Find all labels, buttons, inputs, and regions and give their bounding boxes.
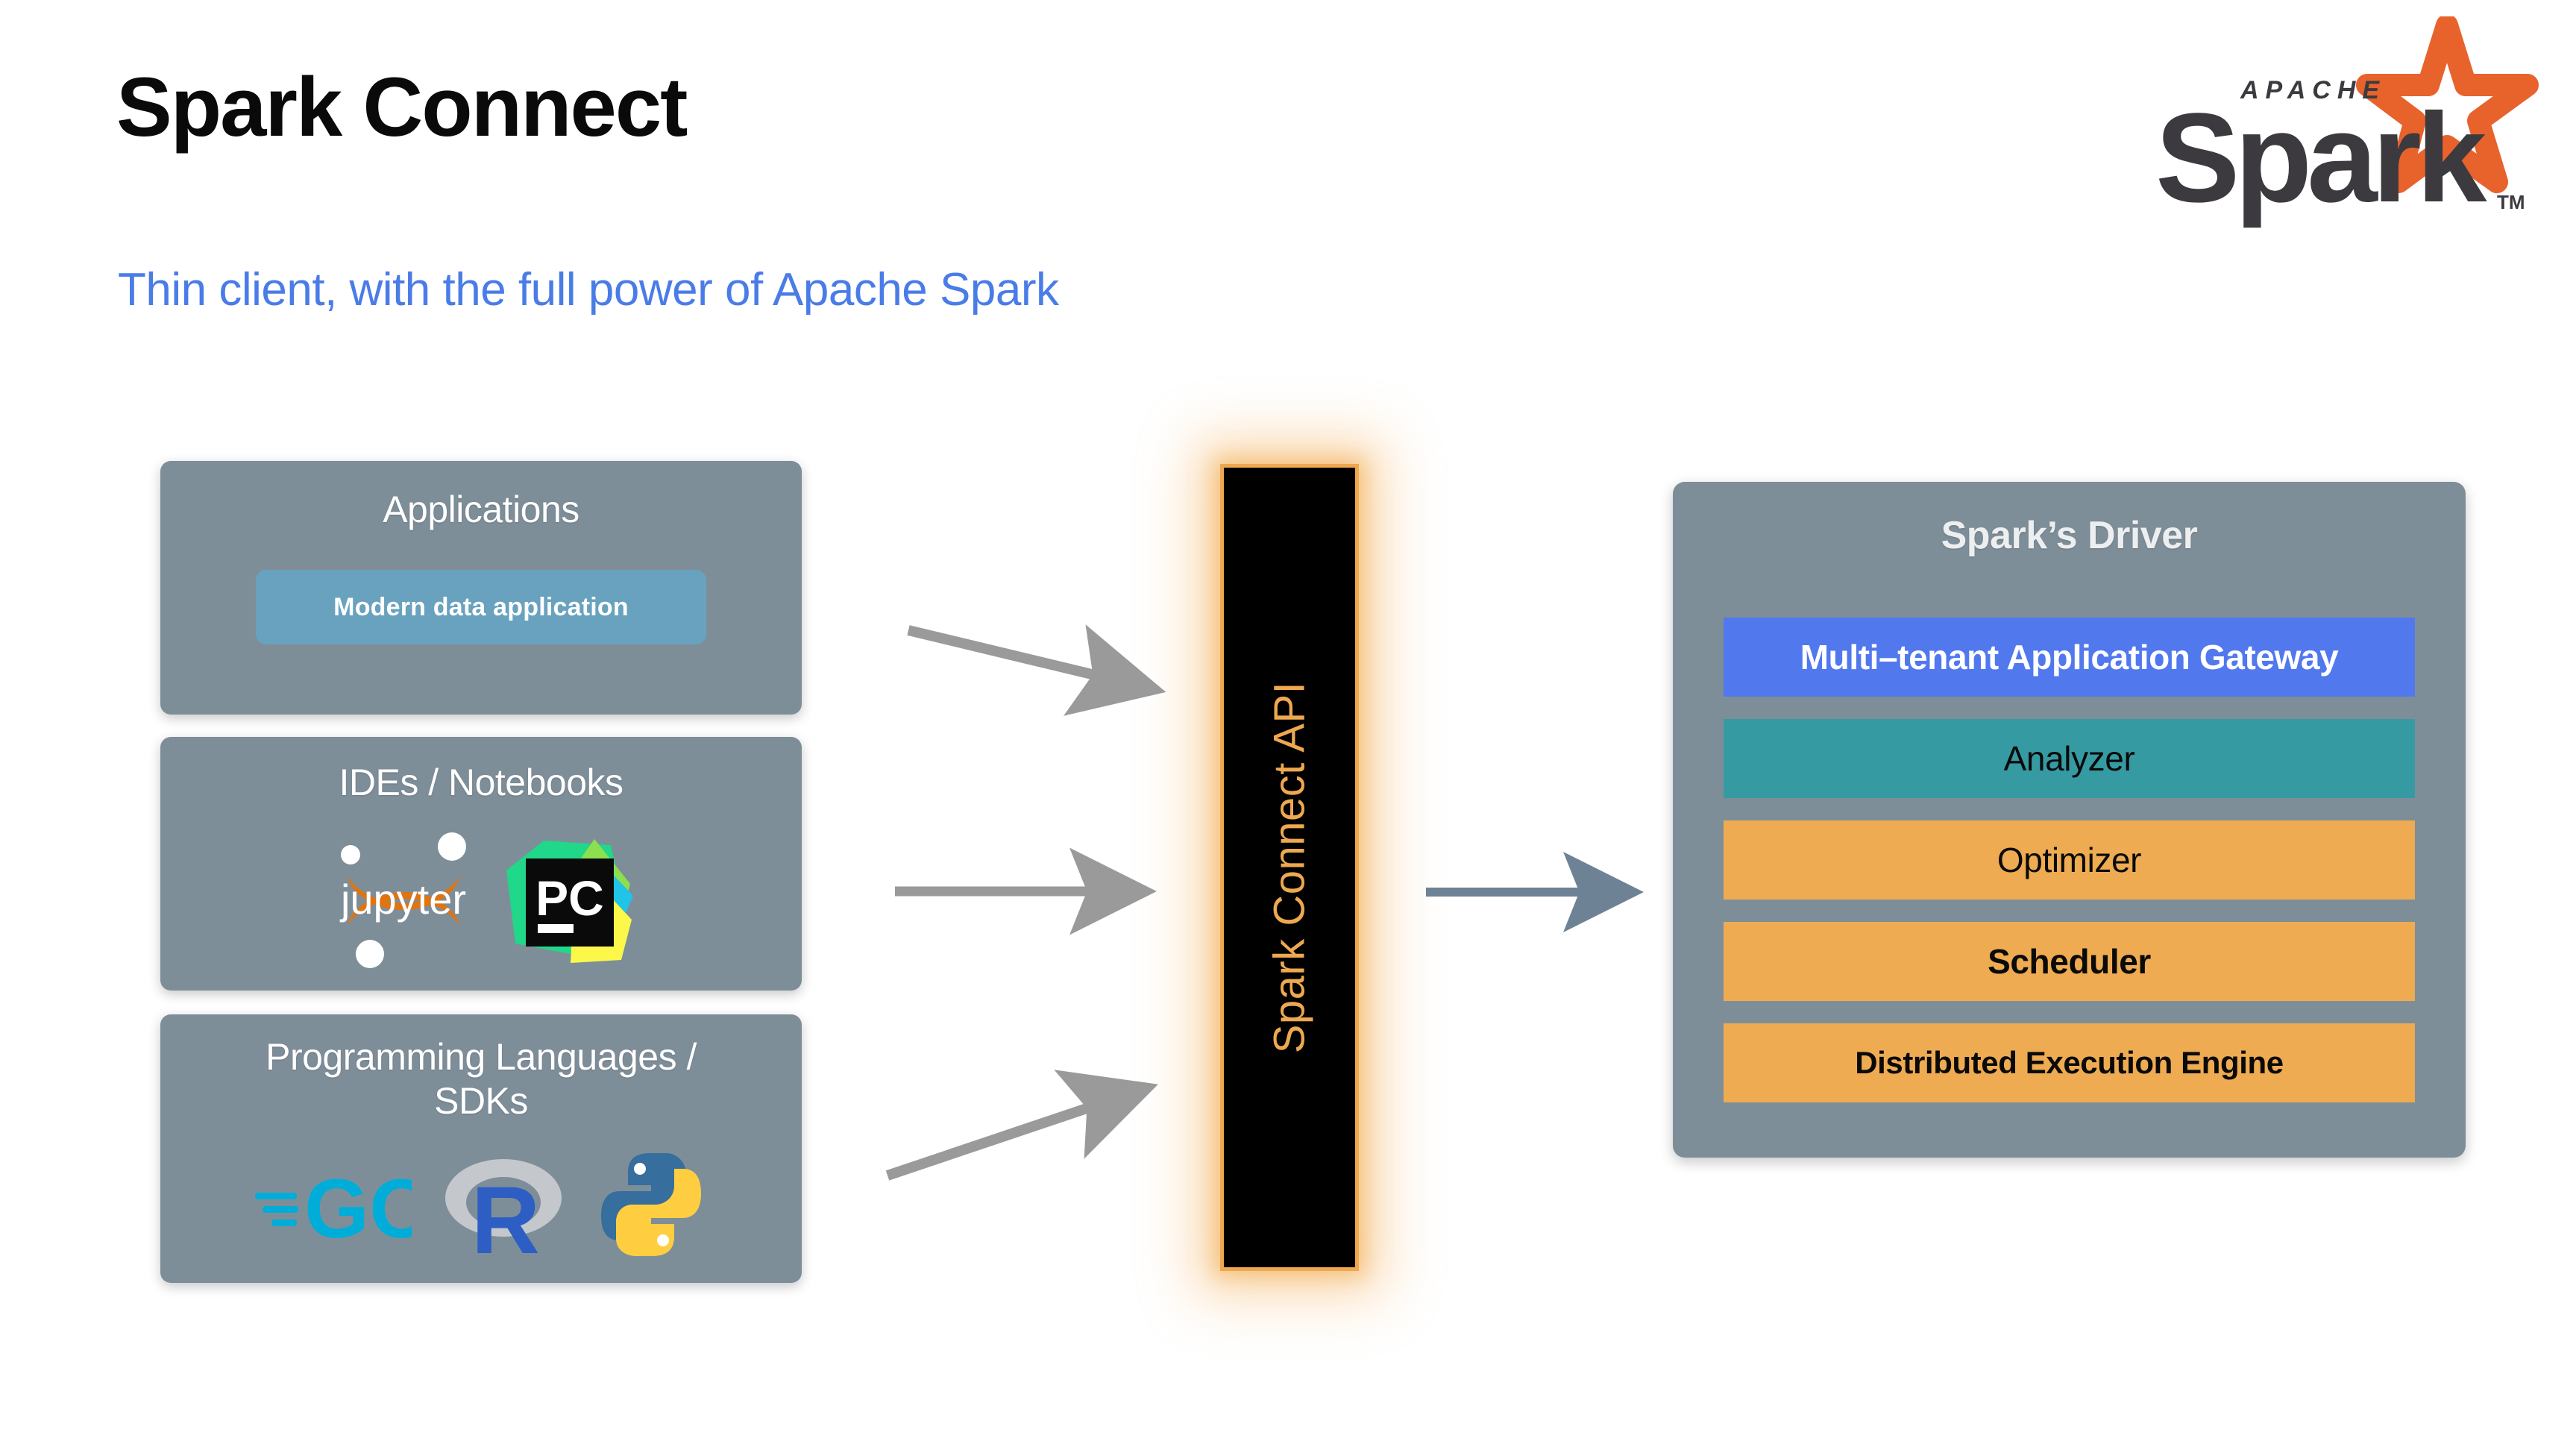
apache-spark-logo: APACHE Spark TM bbox=[2152, 16, 2540, 233]
r-logo: R bbox=[440, 1149, 567, 1261]
page-title: Spark Connect bbox=[116, 66, 686, 149]
arrow-languages-to-api bbox=[888, 1108, 1089, 1176]
card-title-line2: SDKs bbox=[434, 1080, 528, 1122]
spark-connect-api-label: Spark Connect API bbox=[1265, 682, 1315, 1054]
spark-driver-box[interactable]: Spark’s Driver Multi–tenant Application … bbox=[1673, 482, 2466, 1158]
modern-data-application-box[interactable]: Modern data application bbox=[256, 570, 706, 644]
client-card-applications[interactable]: Applications Modern data application bbox=[160, 461, 802, 715]
logo-spark-wordmark: Spark bbox=[2155, 87, 2487, 229]
r-letter: R bbox=[471, 1167, 540, 1261]
python-logo bbox=[595, 1149, 707, 1261]
client-card-programming-languages[interactable]: Programming Languages / SDKs GO R bbox=[160, 1014, 802, 1283]
jupyter-wordmark: jupyter bbox=[339, 876, 466, 923]
driver-row[interactable]: Analyzer bbox=[1724, 719, 2415, 798]
card-title-line1: Programming Languages / bbox=[266, 1036, 697, 1078]
driver-row[interactable]: Distributed Execution Engine bbox=[1724, 1023, 2415, 1102]
driver-row[interactable]: Scheduler bbox=[1724, 922, 2415, 1001]
client-card-ides-notebooks[interactable]: IDEs / Notebooks jupyter PC bbox=[160, 737, 802, 991]
go-logo: GO bbox=[255, 1160, 412, 1249]
driver-title: Spark’s Driver bbox=[1673, 482, 2466, 558]
driver-row[interactable]: Multi–tenant Application Gateway bbox=[1724, 618, 2415, 697]
arrow-applications-to-api bbox=[908, 630, 1095, 675]
pycharm-logo: PC bbox=[499, 832, 633, 966]
logo-trademark: TM bbox=[2497, 191, 2525, 213]
driver-row[interactable]: Optimizer bbox=[1724, 820, 2415, 900]
spark-connect-api-bar[interactable]: Spark Connect API bbox=[1220, 464, 1359, 1271]
page-subtitle: Thin client, with the full power of Apac… bbox=[118, 267, 1058, 313]
card-title-applications: Applications bbox=[160, 461, 802, 532]
pycharm-pc-text: PC bbox=[535, 870, 604, 926]
jupyter-logo: jupyter bbox=[329, 830, 478, 968]
go-wordmark: GO bbox=[304, 1162, 412, 1249]
card-title-programming-languages: Programming Languages / SDKs bbox=[160, 1014, 802, 1123]
card-title-ides-notebooks: IDEs / Notebooks bbox=[160, 737, 802, 805]
driver-rows-list: Multi–tenant Application Gateway Analyze… bbox=[1724, 618, 2415, 1102]
